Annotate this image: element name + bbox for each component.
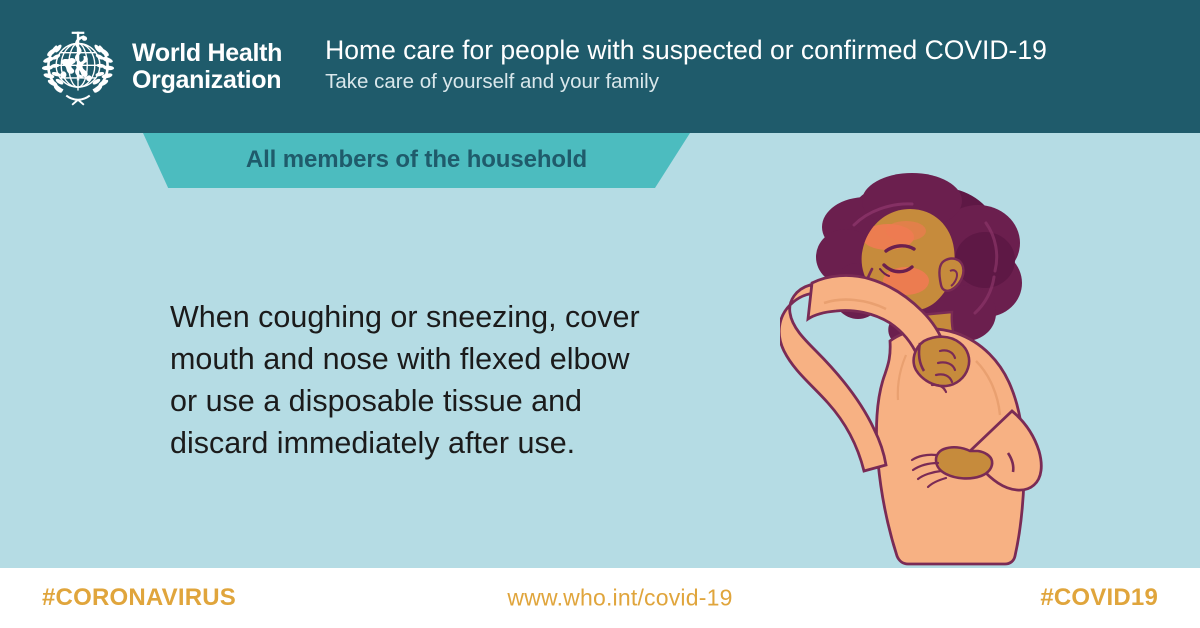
advice-message: When coughing or sneezing, cover mouth a… [170, 296, 730, 464]
advice-line: When coughing or sneezing, cover [170, 296, 730, 338]
advice-line: or use a disposable tissue and [170, 380, 730, 422]
header-text-block: Home care for people with suspected or c… [325, 34, 1047, 100]
banner-label: All members of the household [143, 133, 690, 188]
woman-coughing-into-elbow-illustration [780, 165, 1080, 570]
advice-line: mouth and nose with flexed elbow [170, 338, 730, 380]
who-covid-infographic: World Health Organization Home care for … [0, 0, 1200, 628]
who-wordmark: World Health Organization [132, 40, 282, 93]
header-bar: World Health Organization Home care for … [0, 0, 1200, 133]
who-logo: World Health Organization [36, 25, 282, 109]
who-wordmark-line1: World Health [132, 40, 282, 67]
footer-bar: #CORONAVIRUS www.who.int/covid-19 #COVID… [0, 568, 1200, 628]
hashtag-covid19: #COVID19 [1040, 584, 1158, 612]
who-wordmark-line2: Organization [132, 67, 282, 94]
advice-line: discard immediately after use. [170, 422, 730, 464]
who-covid-url[interactable]: www.who.int/covid-19 [0, 585, 1200, 612]
page-title: Home care for people with suspected or c… [325, 34, 1047, 66]
who-emblem-icon [36, 25, 120, 109]
section-banner: All members of the household [143, 133, 690, 188]
page-subtitle: Take care of yourself and your family [325, 69, 1047, 96]
